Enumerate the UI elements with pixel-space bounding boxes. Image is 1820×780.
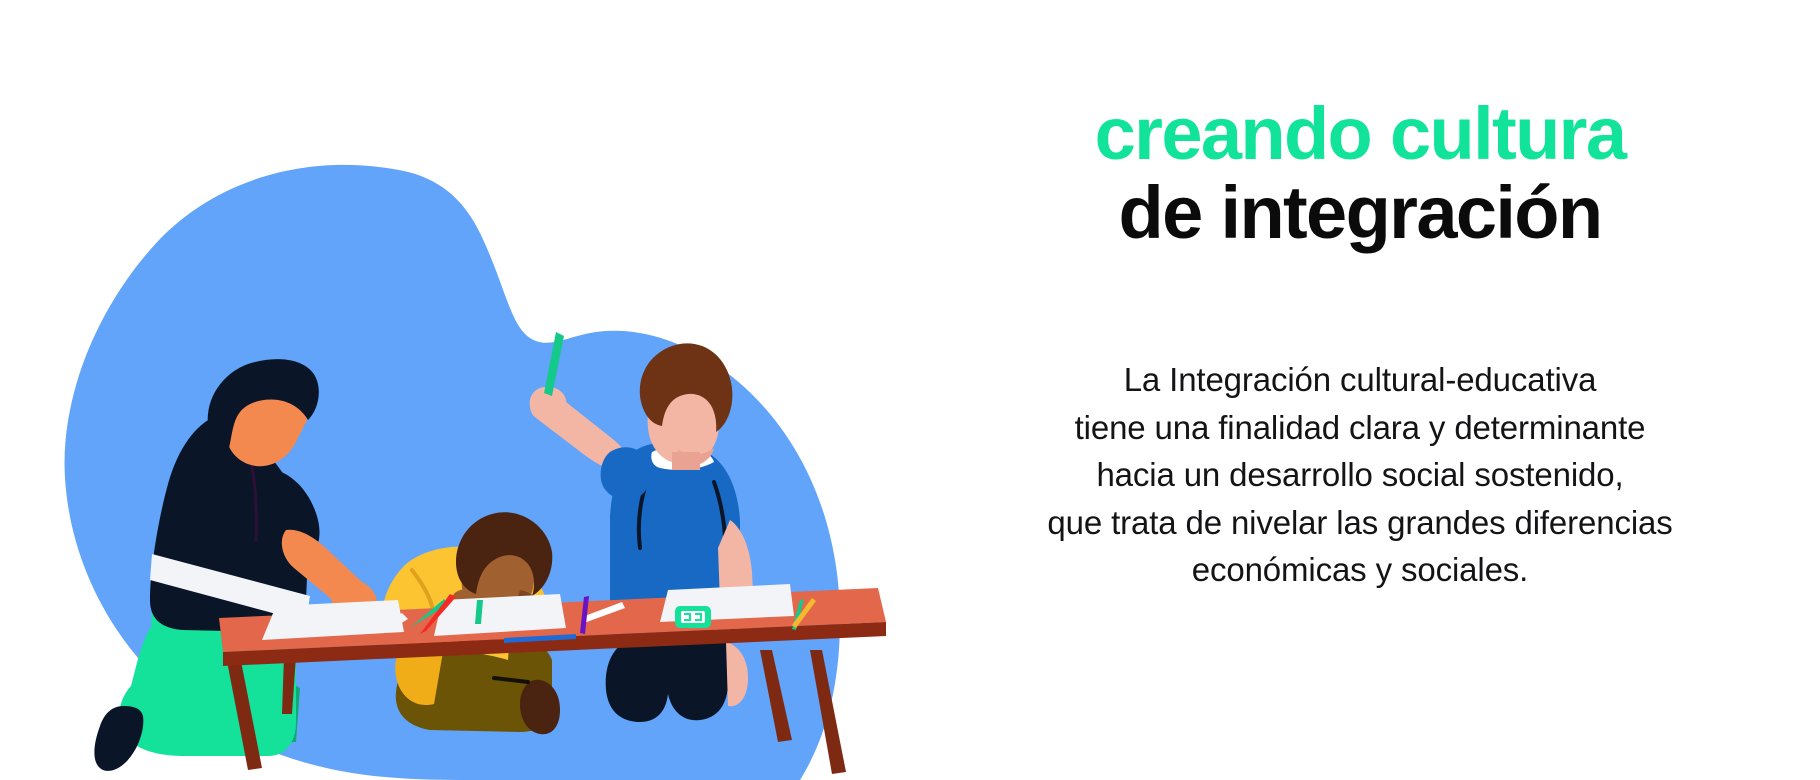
body-copy-line-4: que trata de nivelar las grandes diferen… bbox=[1047, 499, 1672, 547]
headline-line-accent: creando cultura bbox=[1095, 98, 1626, 171]
body-copy: La Integración cultural-educativa tiene … bbox=[1047, 356, 1672, 594]
right-student-raised-sleeve bbox=[601, 447, 651, 500]
banner-root: creando cultura de integración La Integr… bbox=[0, 0, 1820, 780]
illustration-pane bbox=[0, 0, 900, 780]
body-copy-line-3: hacia un desarrollo social sostenido, bbox=[1047, 451, 1672, 499]
body-copy-line-1: La Integración cultural-educativa bbox=[1047, 356, 1672, 404]
left-student-shoe bbox=[94, 706, 143, 771]
body-copy-line-2: tiene una finalidad clara y determinante bbox=[1047, 404, 1672, 452]
body-copy-line-5: económicas y sociales. bbox=[1047, 546, 1672, 594]
students-drawing-illustration bbox=[0, 0, 900, 780]
headline-line-main: de integración bbox=[1095, 177, 1626, 250]
text-pane: creando cultura de integración La Integr… bbox=[900, 0, 1820, 780]
right-student-neck bbox=[672, 452, 700, 470]
page-title: creando cultura de integración bbox=[1095, 98, 1626, 249]
